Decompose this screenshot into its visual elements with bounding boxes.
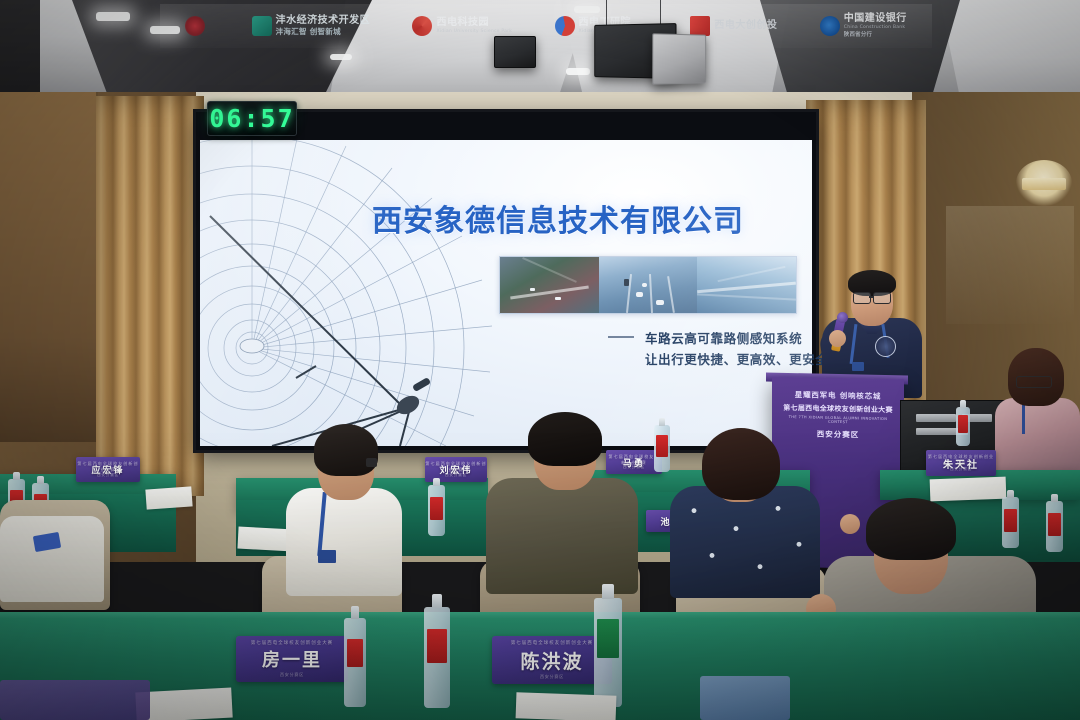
water-bottle bbox=[594, 584, 622, 700]
nameplate: 第七届西电全球校友创新创业大赛 房一里 西安分赛区 bbox=[236, 636, 348, 682]
chair-cover bbox=[0, 516, 104, 602]
person-hair bbox=[314, 424, 378, 476]
sponsor-logo: 西电科技园 Xidian University Science Park bbox=[412, 16, 512, 36]
nameplate-bottom-text: 西安分赛区 bbox=[236, 672, 348, 678]
av-device bbox=[916, 414, 956, 422]
nameplate-top-text: 第七届西电全球校友创新创业大赛 bbox=[236, 640, 348, 646]
left-wall-panel bbox=[0, 92, 98, 442]
aerial-urban-interchange-photo bbox=[500, 257, 599, 313]
ceiling-speaker bbox=[652, 33, 706, 85]
radar-dish-antenna-graphic bbox=[200, 140, 500, 446]
ceiling-speaker-small bbox=[494, 36, 536, 68]
nameplate-bottom-text: 西安分赛区 bbox=[926, 467, 996, 472]
sponsor-banner: 沣水经济技术开发区 沣海汇智 创智新城 西电科技园 Xidian Univers… bbox=[160, 4, 932, 48]
nameplate-top-text: 第七届西电全球校友创新创业大赛 bbox=[926, 454, 996, 466]
sponsor-tagline-cn: 沣海汇智 创智新城 bbox=[276, 28, 371, 36]
ceiling-light bbox=[566, 68, 590, 75]
ceiling-edge-dark bbox=[0, 0, 40, 96]
arc-mark-icon bbox=[555, 16, 575, 36]
ceiling-beam bbox=[940, 0, 1080, 96]
elevated-expressway-photo bbox=[697, 257, 796, 313]
person-torso bbox=[995, 398, 1080, 476]
slide-subtitle-line1: 车路云高可靠路侧感知系统 bbox=[645, 328, 802, 347]
swirl-mark-icon bbox=[412, 16, 432, 36]
ccb-mark-icon bbox=[820, 16, 840, 36]
person-hand bbox=[840, 514, 860, 534]
nameplate-name: 房一里 bbox=[262, 646, 322, 672]
podium-sign-line3: THE 7TH XIDIAN GLOBAL ALUMNI INNOVATION … bbox=[782, 415, 894, 425]
slide-subtitle-dash bbox=[608, 336, 634, 338]
slide-photo-strip bbox=[499, 256, 797, 314]
ceiling-light bbox=[96, 12, 130, 21]
countdown-timer: 06:57 bbox=[207, 101, 297, 136]
presenter-badge bbox=[852, 362, 864, 371]
nameplate-back bbox=[0, 680, 150, 720]
slide-title: 西安象德信息技术有限公司 bbox=[372, 196, 812, 240]
sponsor-logo: 沣水经济技术开发区 沣海汇智 创智新城 bbox=[252, 16, 371, 36]
paper-document bbox=[516, 692, 617, 720]
presenter-hand bbox=[829, 330, 846, 347]
sponsor-name-cn: 西电科技园 bbox=[436, 18, 512, 28]
conference-photo-scene: 沣水经济技术开发区 沣海汇智 创智新城 西电科技园 Xidian Univers… bbox=[0, 0, 1080, 720]
paper-document bbox=[145, 486, 192, 509]
water-bottle bbox=[344, 606, 366, 702]
water-bottle bbox=[1046, 494, 1063, 552]
nameplate-name: 陈洪波 bbox=[520, 647, 583, 674]
nameplate-top-text: 第七届西电全球校友创新创业大赛 bbox=[76, 461, 140, 473]
wall-sconce-shade bbox=[1022, 178, 1066, 190]
person-torso bbox=[670, 486, 820, 598]
highway-traffic-photo bbox=[599, 257, 698, 313]
glasses-icon bbox=[873, 292, 891, 304]
folder-item bbox=[700, 676, 790, 720]
sponsor-branch-cn: 陕西省分行 bbox=[844, 33, 907, 38]
presentation-slide bbox=[200, 140, 812, 446]
water-bottle bbox=[956, 400, 970, 446]
sponsor-name-cn: 中国建设银行 bbox=[844, 14, 907, 24]
nameplate-top-text: 第七届西电全球校友创新创业大赛 bbox=[425, 461, 487, 473]
podium-sign-line2: 第七届西电全球校友创新创业大赛 bbox=[782, 403, 894, 415]
podium-sign-line4: 西安分赛区 bbox=[782, 428, 894, 441]
glasses-temple bbox=[366, 458, 377, 467]
slide-subtitle-line2: 让出行更快捷、更高效、更安全 bbox=[645, 349, 828, 368]
wall-light-wash bbox=[946, 206, 1074, 324]
glasses-icon bbox=[1016, 376, 1052, 388]
microphone-head bbox=[837, 312, 848, 323]
sponsor-logo: 中国建设银行 China Construction Bank 陕西省分行 bbox=[820, 14, 907, 38]
person-hair bbox=[702, 428, 780, 500]
seal-emblem-icon bbox=[185, 16, 205, 36]
presenter-shirt-logo bbox=[875, 336, 896, 357]
podium-sign: 星耀西军电 创响核芯城 第七届西电全球校友创新创业大赛 THE 7TH XIDI… bbox=[782, 389, 894, 441]
badge bbox=[318, 550, 336, 563]
sponsor-name-en: Xidian University Science Park bbox=[436, 30, 512, 35]
sponsor-name-cn: 沣水经济技术开发区 bbox=[276, 16, 371, 26]
water-bottle bbox=[424, 594, 450, 702]
flag-mark-icon bbox=[690, 16, 710, 36]
person-hair bbox=[528, 412, 602, 466]
water-bottle bbox=[428, 478, 445, 536]
paper-document bbox=[930, 477, 1007, 502]
sponsor-name-cn: 西电大创创投 bbox=[714, 21, 777, 31]
nameplate: 第七届西电全球校友创新创业大赛 朱天社 西安分赛区 bbox=[926, 450, 996, 476]
ceiling-light bbox=[330, 54, 352, 60]
nameplate-bottom-text: 西安分赛区 bbox=[76, 473, 140, 478]
sponsor-logo: 西电大创创投 bbox=[690, 16, 777, 36]
nameplate: 第七届西电全球校友创新创业大赛 应宏锋 西安分赛区 bbox=[76, 457, 140, 482]
person-torso bbox=[286, 488, 402, 596]
curtain-left bbox=[96, 96, 204, 496]
sponsor-name-en: China Construction Bank bbox=[844, 26, 907, 31]
glasses-icon bbox=[853, 292, 871, 304]
podium-sign-line1: 星耀西军电 创响核芯城 bbox=[782, 389, 894, 402]
sponsor-logo bbox=[185, 16, 209, 36]
building-mark-icon bbox=[252, 16, 272, 36]
countdown-timer-value: 06:57 bbox=[209, 104, 294, 133]
person-hair bbox=[866, 498, 956, 560]
glasses-bridge bbox=[869, 296, 873, 298]
water-bottle bbox=[654, 418, 670, 472]
person-torso bbox=[486, 478, 638, 594]
water-bottle bbox=[1002, 490, 1019, 548]
